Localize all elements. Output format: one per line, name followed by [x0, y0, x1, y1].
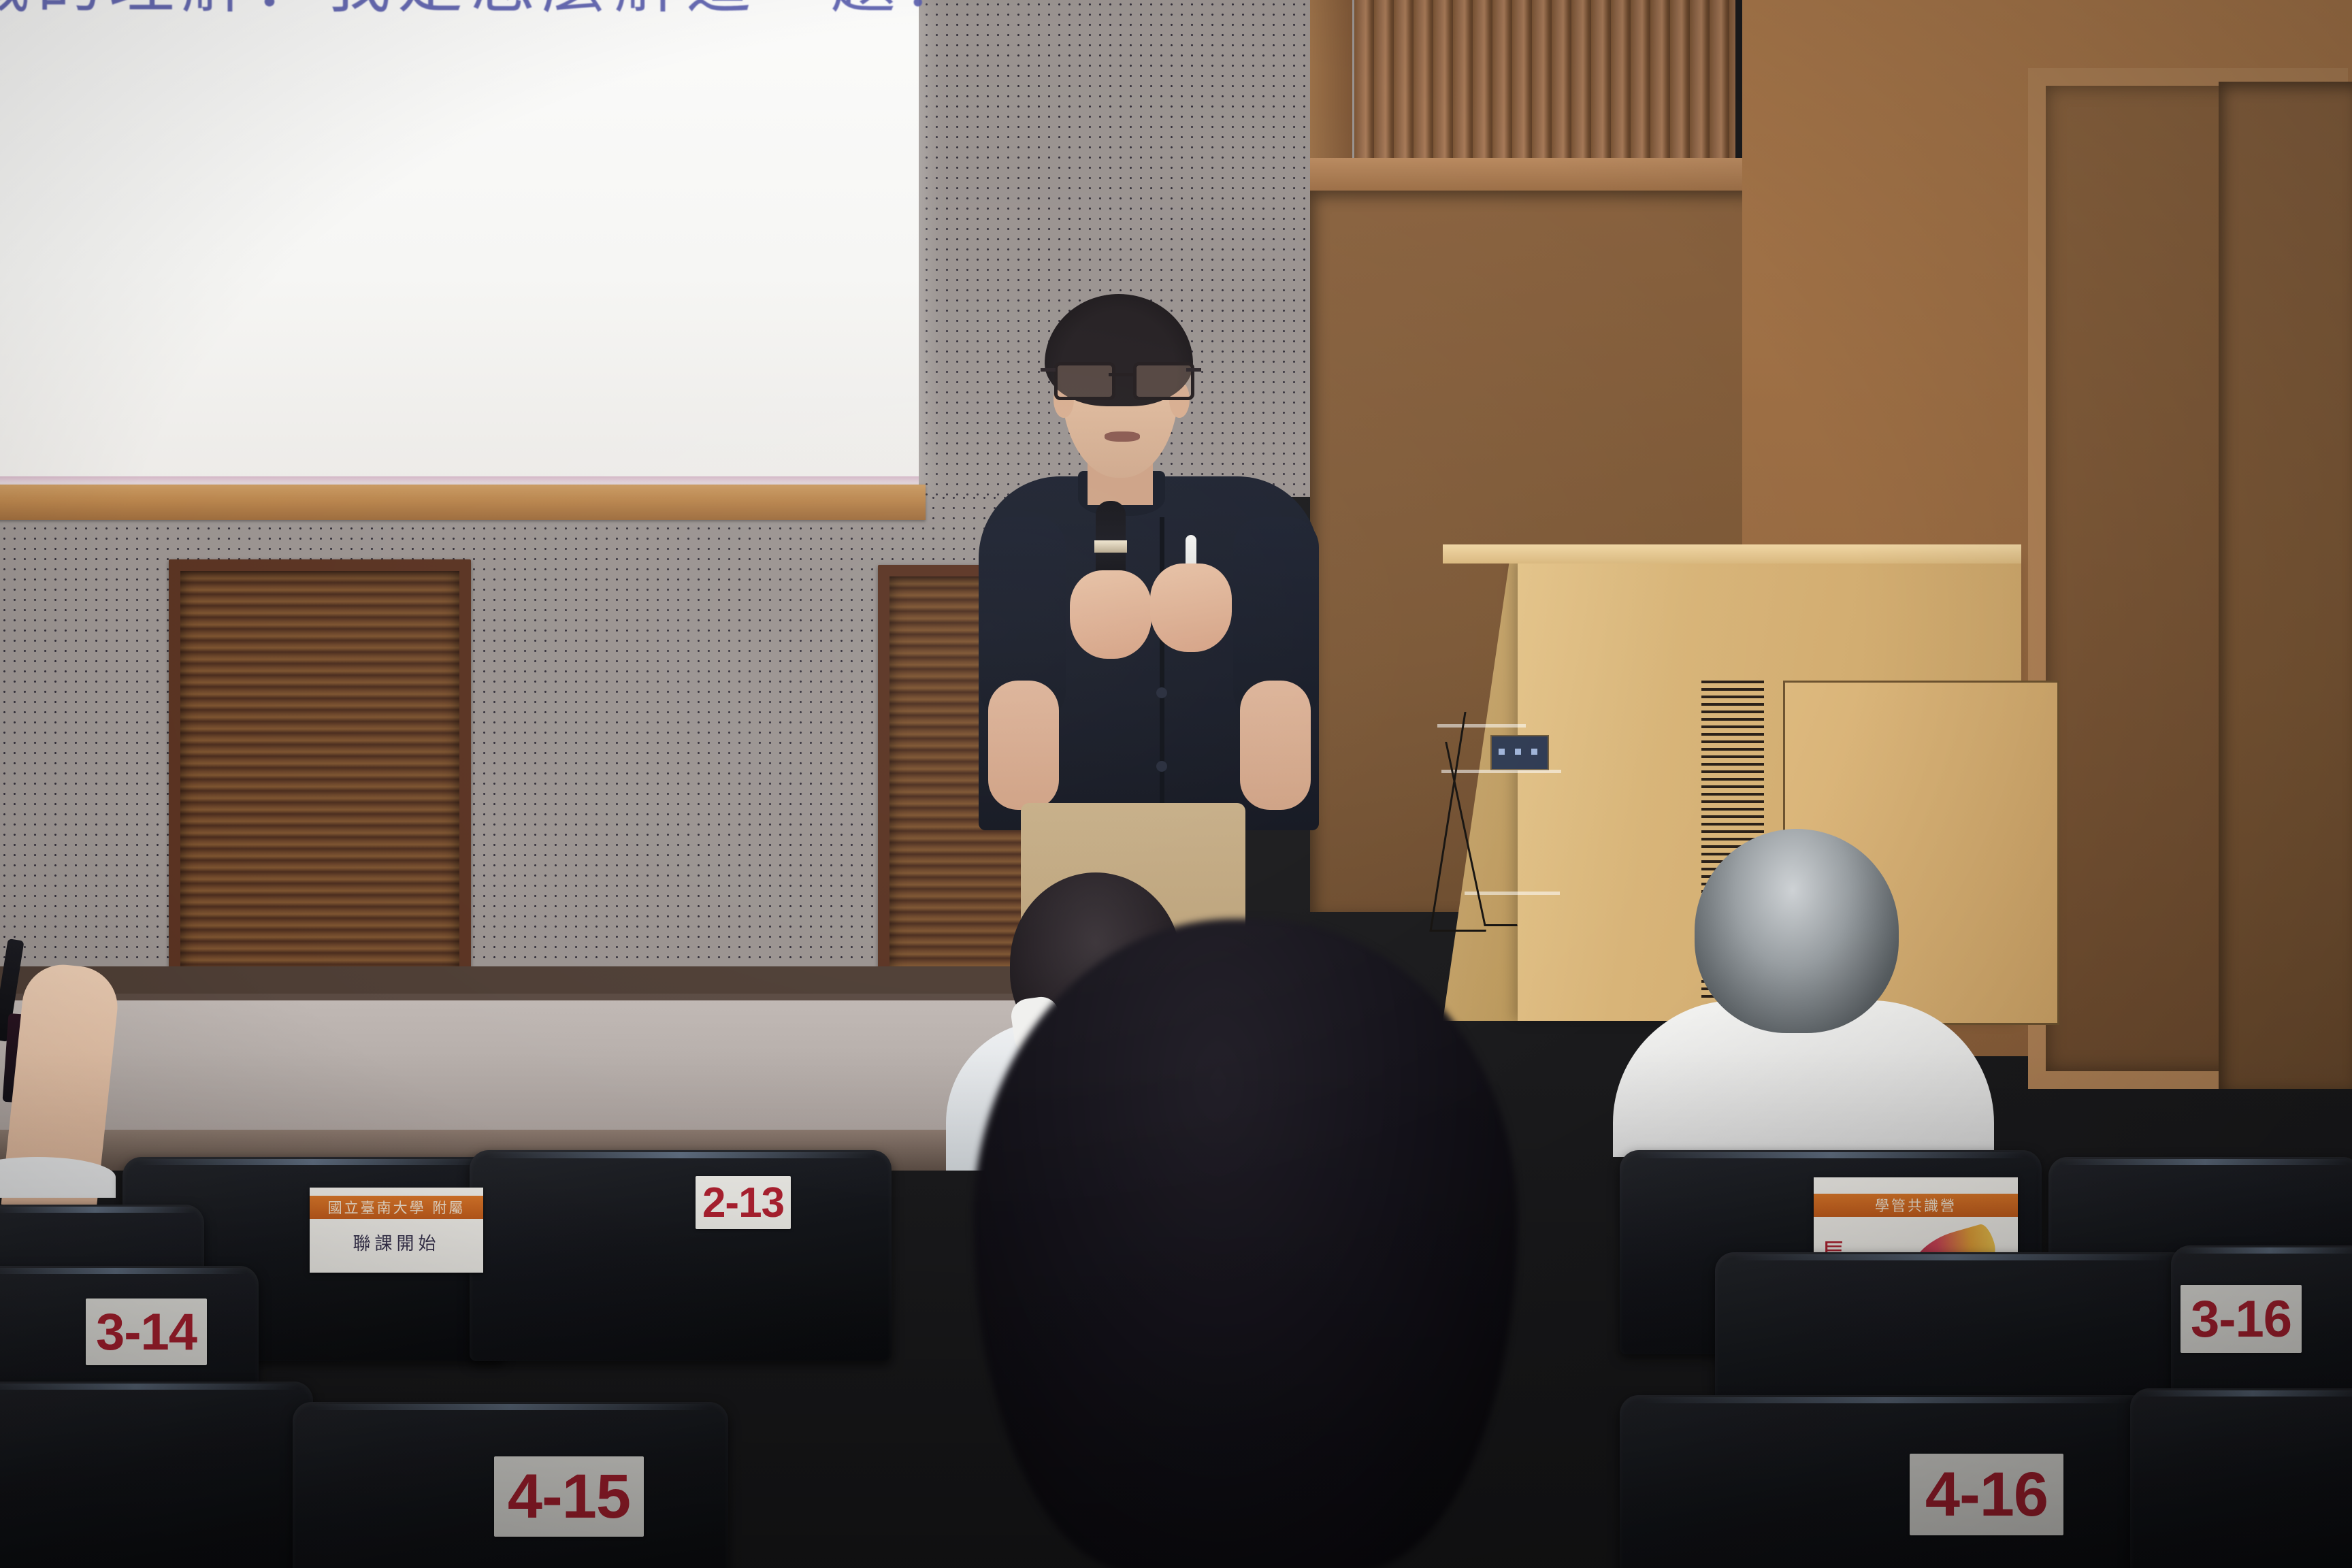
speaker-left-forearm [988, 681, 1059, 810]
seat-label-2-13: 2-13 [696, 1176, 791, 1229]
podium-led-2 [1515, 749, 1521, 755]
seat-highlight [2061, 1159, 2349, 1165]
seat-label-4-16: 4-16 [1910, 1454, 2063, 1535]
glasses-lens-left [1054, 362, 1115, 400]
seat-highlight [0, 1207, 195, 1213]
glasses-temple-left [1041, 368, 1056, 372]
seat-highlight [2179, 1247, 2352, 1254]
grey-haired-attendee-head [1695, 829, 1899, 1033]
screen-wood-rail [0, 485, 926, 520]
seat-row4-d[interactable] [2130, 1388, 2352, 1568]
speaker-shirt-placket [1160, 517, 1164, 803]
speaker-mouth [1105, 431, 1140, 442]
seat-highlight [0, 1384, 299, 1390]
seat-row4-a[interactable] [0, 1382, 313, 1568]
seat-label-text: 4-15 [508, 1461, 630, 1533]
speaker-hand-right [1150, 563, 1232, 652]
glasses-bridge [1109, 373, 1133, 376]
seat-highlight [1641, 1397, 2129, 1403]
glasses-temple-right [1186, 368, 1201, 372]
seat-label-4-15: 4-15 [494, 1456, 644, 1537]
poster-right-band: 學管共識營 [1814, 1194, 2018, 1217]
seat-highlight [1734, 1254, 2172, 1260]
seat-label-text: 4-16 [1925, 1459, 2048, 1531]
podium-led-3 [1531, 749, 1537, 755]
seat-highlight [2140, 1390, 2352, 1396]
seat-highlight [310, 1404, 711, 1410]
poster-left-band: 國立臺南大學 附屬 [310, 1196, 483, 1219]
poster-left-subtitle: 聯課開始 [310, 1230, 483, 1255]
wood-louver-panel-left [169, 559, 471, 998]
slat-wall-lintel [1310, 158, 1786, 193]
foreground-attendee-head [973, 919, 1518, 1568]
speaker-right-forearm [1240, 681, 1311, 810]
podium-top-surface [1443, 544, 2021, 563]
seat-highlight [0, 1268, 247, 1274]
seat-label-text: 2-13 [702, 1179, 784, 1227]
lecture-hall-photo: 域的理解：我是怎麼解這一題？ [0, 0, 2352, 1568]
seat-label-3-14: 3-14 [86, 1298, 207, 1365]
seat-label-text: 3-16 [2191, 1290, 2291, 1349]
microphone-band [1094, 540, 1127, 553]
door-recess-far-right[interactable] [2219, 82, 2352, 1089]
microphone [1096, 501, 1126, 578]
seat-row4-c[interactable] [1620, 1395, 2151, 1568]
poster-left: 國立臺南大學 附屬 聯課開始 [310, 1188, 483, 1273]
speaker-button-3 [1156, 761, 1167, 772]
speaker-button-2 [1156, 687, 1167, 698]
glasses-lens-right [1133, 362, 1194, 400]
seat-label-3-16: 3-16 [2180, 1285, 2302, 1353]
speaker-glasses [1054, 362, 1188, 393]
seat-row2-b[interactable] [470, 1150, 892, 1361]
seat-highlight [487, 1152, 875, 1158]
seat-label-text: 3-14 [96, 1303, 197, 1362]
seat-highlight [137, 1159, 488, 1165]
projection-screen: 域的理解：我是怎麼解這一題？ [0, 0, 919, 500]
seat-highlight [1637, 1152, 2025, 1158]
speaker-hand-left [1070, 570, 1151, 659]
slide-text: 域的理解：我是怎麼解這一題？ [0, 0, 975, 16]
